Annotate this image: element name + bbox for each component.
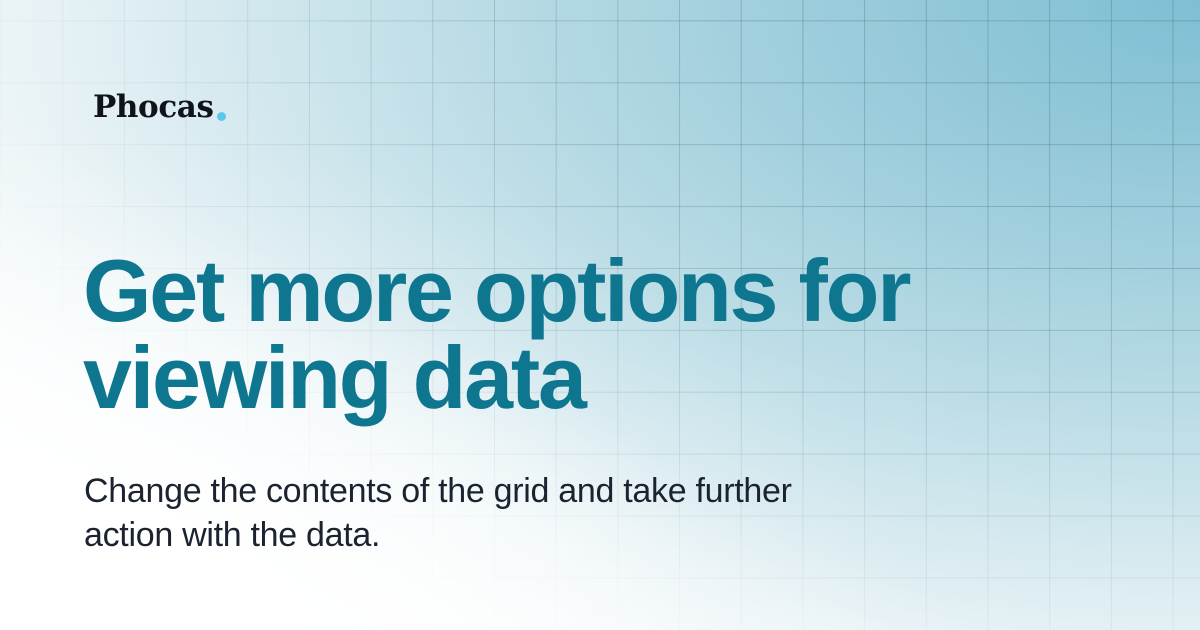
banner-content: Phocas . Get more options for viewing da… — [0, 0, 1200, 630]
promo-banner: Phocas . Get more options for viewing da… — [0, 0, 1200, 630]
page-subtitle: Change the contents of the grid and take… — [84, 470, 904, 557]
logo-dot-icon — [217, 112, 226, 121]
logo-wordmark: Phocas — [93, 92, 214, 123]
page-title: Get more options for viewing data — [83, 247, 1083, 421]
phocas-logo[interactable]: Phocas . — [93, 92, 226, 123]
